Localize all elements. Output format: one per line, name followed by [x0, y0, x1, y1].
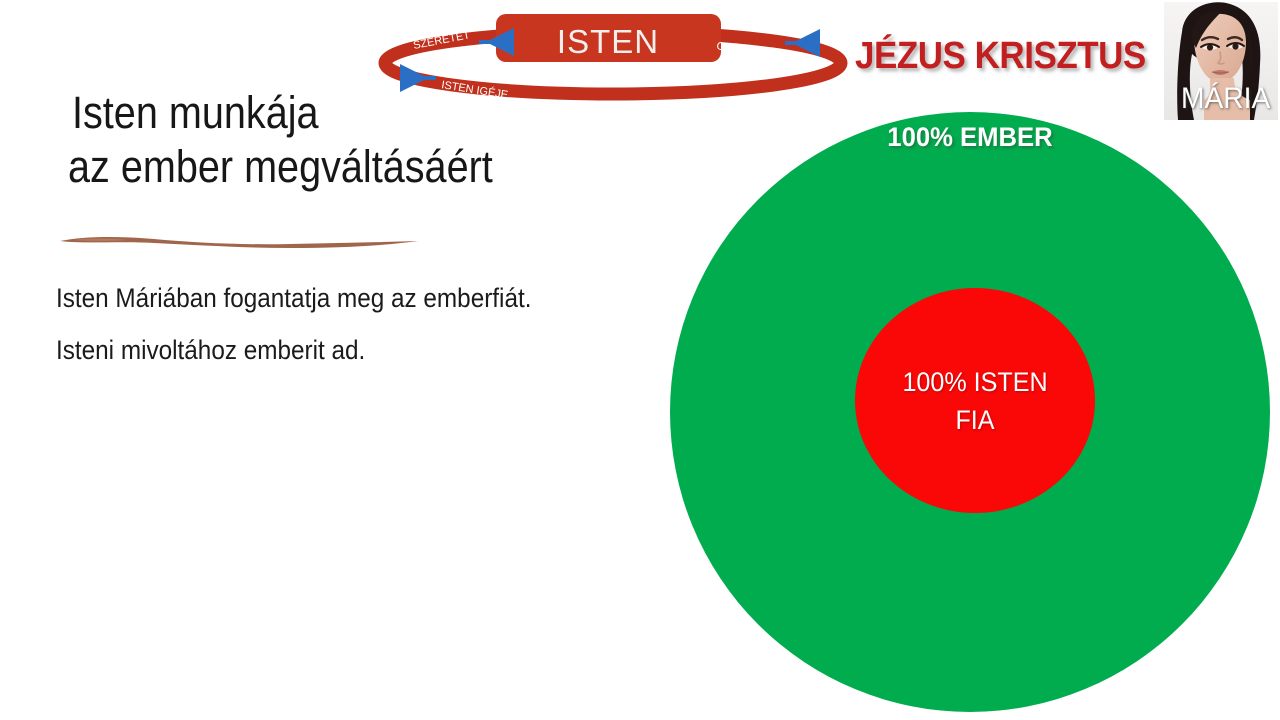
maria-label: MÁRIA	[1181, 82, 1270, 116]
headline-jezus-krisztus: JÉZUS KRISZTUS	[855, 35, 1146, 78]
logo-center-label: ISTEN	[557, 23, 659, 60]
body-text: Isten Máriában fogantatja meg az emberfi…	[56, 272, 676, 376]
body-text-line-2: Isteni mivoltához emberit ad.	[56, 324, 614, 376]
page-title-line-1: Isten munkája	[72, 86, 600, 140]
brush-divider	[58, 232, 420, 250]
outer-circle-label: 100% EMBER	[685, 122, 1255, 153]
body-text-line-1: Isten Máriában fogantatja meg az emberfi…	[56, 272, 614, 324]
page-title-line-2: az ember megváltásáért	[68, 140, 600, 194]
slide-canvas: ISTEN SZERETET ISTEN IGÉJE GYÜMÖLCS JÉZU…	[0, 0, 1280, 720]
page-title: Isten munkája az ember megváltásáért	[72, 86, 672, 194]
inner-circle-label-line-2: FIA	[955, 401, 994, 439]
inner-circle-divine: 100% ISTEN FIA	[855, 288, 1095, 513]
inner-circle-label-line-1: 100% ISTEN	[902, 363, 1047, 401]
